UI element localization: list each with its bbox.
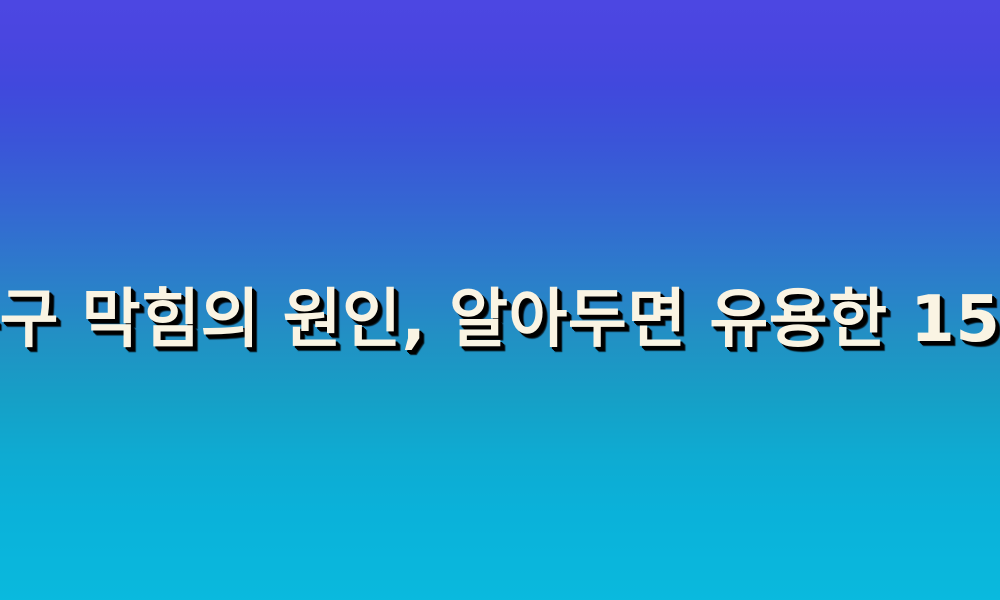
title-container: 수구 막힘의 원인, 알아두면 유용한 15가 bbox=[0, 0, 1000, 600]
page-title: 수구 막힘의 원인, 알아두면 유용한 15가 bbox=[0, 288, 1000, 352]
thumbnail-canvas: 수구 막힘의 원인, 알아두면 유용한 15가 bbox=[0, 0, 1000, 600]
